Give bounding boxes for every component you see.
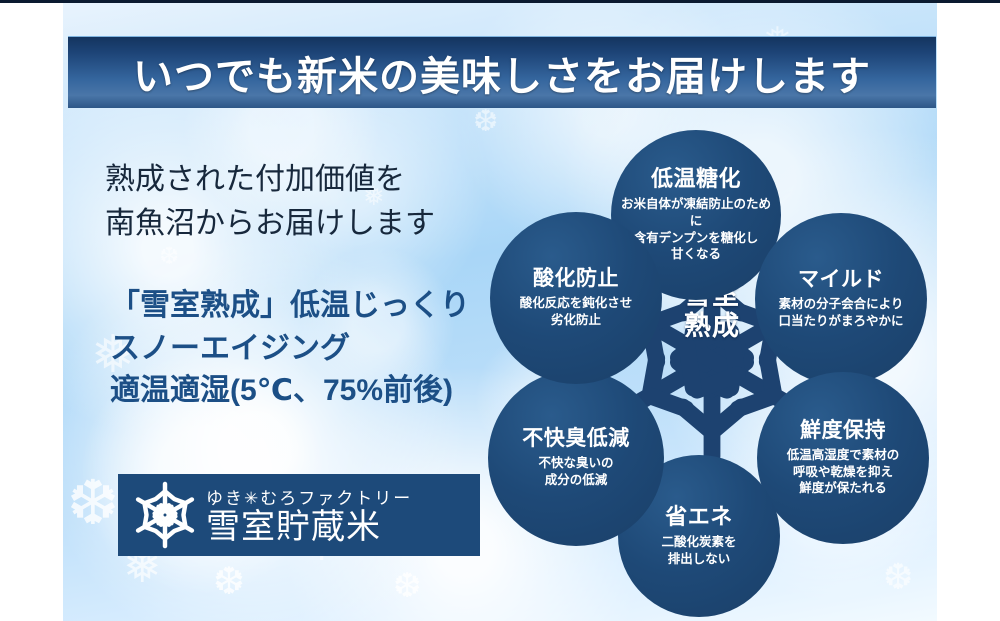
- subheadline-line-2: スノーエイジング: [110, 328, 470, 371]
- top-edge-strip: [0, 0, 1000, 3]
- headline-banner: いつでも新米の美味しさをお届けします: [68, 36, 936, 108]
- lead-line-2: 南魚沼からお届けします: [105, 202, 435, 246]
- benefit-title: 酸化防止: [533, 267, 619, 290]
- lead-copy: 熟成された付加価値を 南魚沼からお届けします: [105, 158, 435, 245]
- brand-logo-words: ゆき✳むろファクトリー 雪室貯蔵米: [206, 484, 412, 546]
- benefit-title: 不快臭低減: [522, 427, 630, 450]
- benefit-title: マイルド: [798, 268, 884, 291]
- benefit-description: 素材の分子会合により 口当たりがまろやかに: [778, 296, 903, 329]
- benefit-description: 酸化反応を鈍化させ 劣化防止: [520, 295, 633, 328]
- snowflake-icon: [128, 478, 202, 552]
- subheadline-line-3: 適温適湿(5℃、75%前後): [110, 370, 470, 413]
- headline-text: いつでも新米の美味しさをお届けします: [133, 44, 871, 102]
- poster-canvas: ❆ ❅ ❆ ❅ ❆ ❅ ❆ ❆ ❅ ❆ ❅ ❆ ❅ いつでも新米の美味しさをお届…: [0, 0, 1000, 621]
- benefit-node-mild[interactable]: マイルド 素材の分子会合により 口当たりがまろやかに: [755, 213, 927, 385]
- benefit-title: 省エネ: [665, 505, 733, 529]
- benefit-title: 低温糖化: [651, 167, 741, 191]
- brand-sub-label: ゆき✳むろファクトリー: [206, 484, 412, 509]
- benefit-node-odor-reduction[interactable]: 不快臭低減 不快な臭いの 成分の低減: [488, 370, 664, 546]
- subheadline-copy: 「雪室熟成」低温じっくり スノーエイジング 適温適湿(5℃、75%前後): [110, 285, 470, 413]
- lead-line-1: 熟成された付加価値を: [105, 158, 435, 202]
- snowflake-decor-icon: ❆: [213, 563, 245, 601]
- benefits-diagram: 雪室 熟成 低温糖化 お米自体が凍結防止のために 含有デンプンを糖化し 甘くなる…: [480, 130, 940, 590]
- benefit-description: 不快な臭いの 成分の低減: [538, 455, 613, 488]
- brand-main-label: 雪室貯蔵米: [206, 510, 412, 546]
- benefit-title: 鮮度保持: [800, 419, 886, 442]
- snowflake-decor-icon: ❆: [159, 245, 179, 269]
- benefit-node-freshness-retention[interactable]: 鮮度保持 低温高湿度で素材の 呼吸や乾燥を抑え 鮮度が保たれる: [757, 372, 929, 544]
- brand-logo: ゆき✳むろファクトリー 雪室貯蔵米: [118, 474, 480, 556]
- snowflake-decor-icon: ❆: [67, 473, 119, 535]
- snowflake-decor-icon: ❆: [393, 569, 422, 603]
- subheadline-line-1: 「雪室熟成」低温じっくり: [110, 285, 470, 328]
- benefit-node-antioxidation[interactable]: 酸化防止 酸化反応を鈍化させ 劣化防止: [490, 212, 662, 384]
- benefit-description: 低温高湿度で素材の 呼吸や乾燥を抑え 鮮度が保たれる: [787, 447, 900, 497]
- benefit-description: 二酸化炭素を 排出しない: [661, 534, 736, 567]
